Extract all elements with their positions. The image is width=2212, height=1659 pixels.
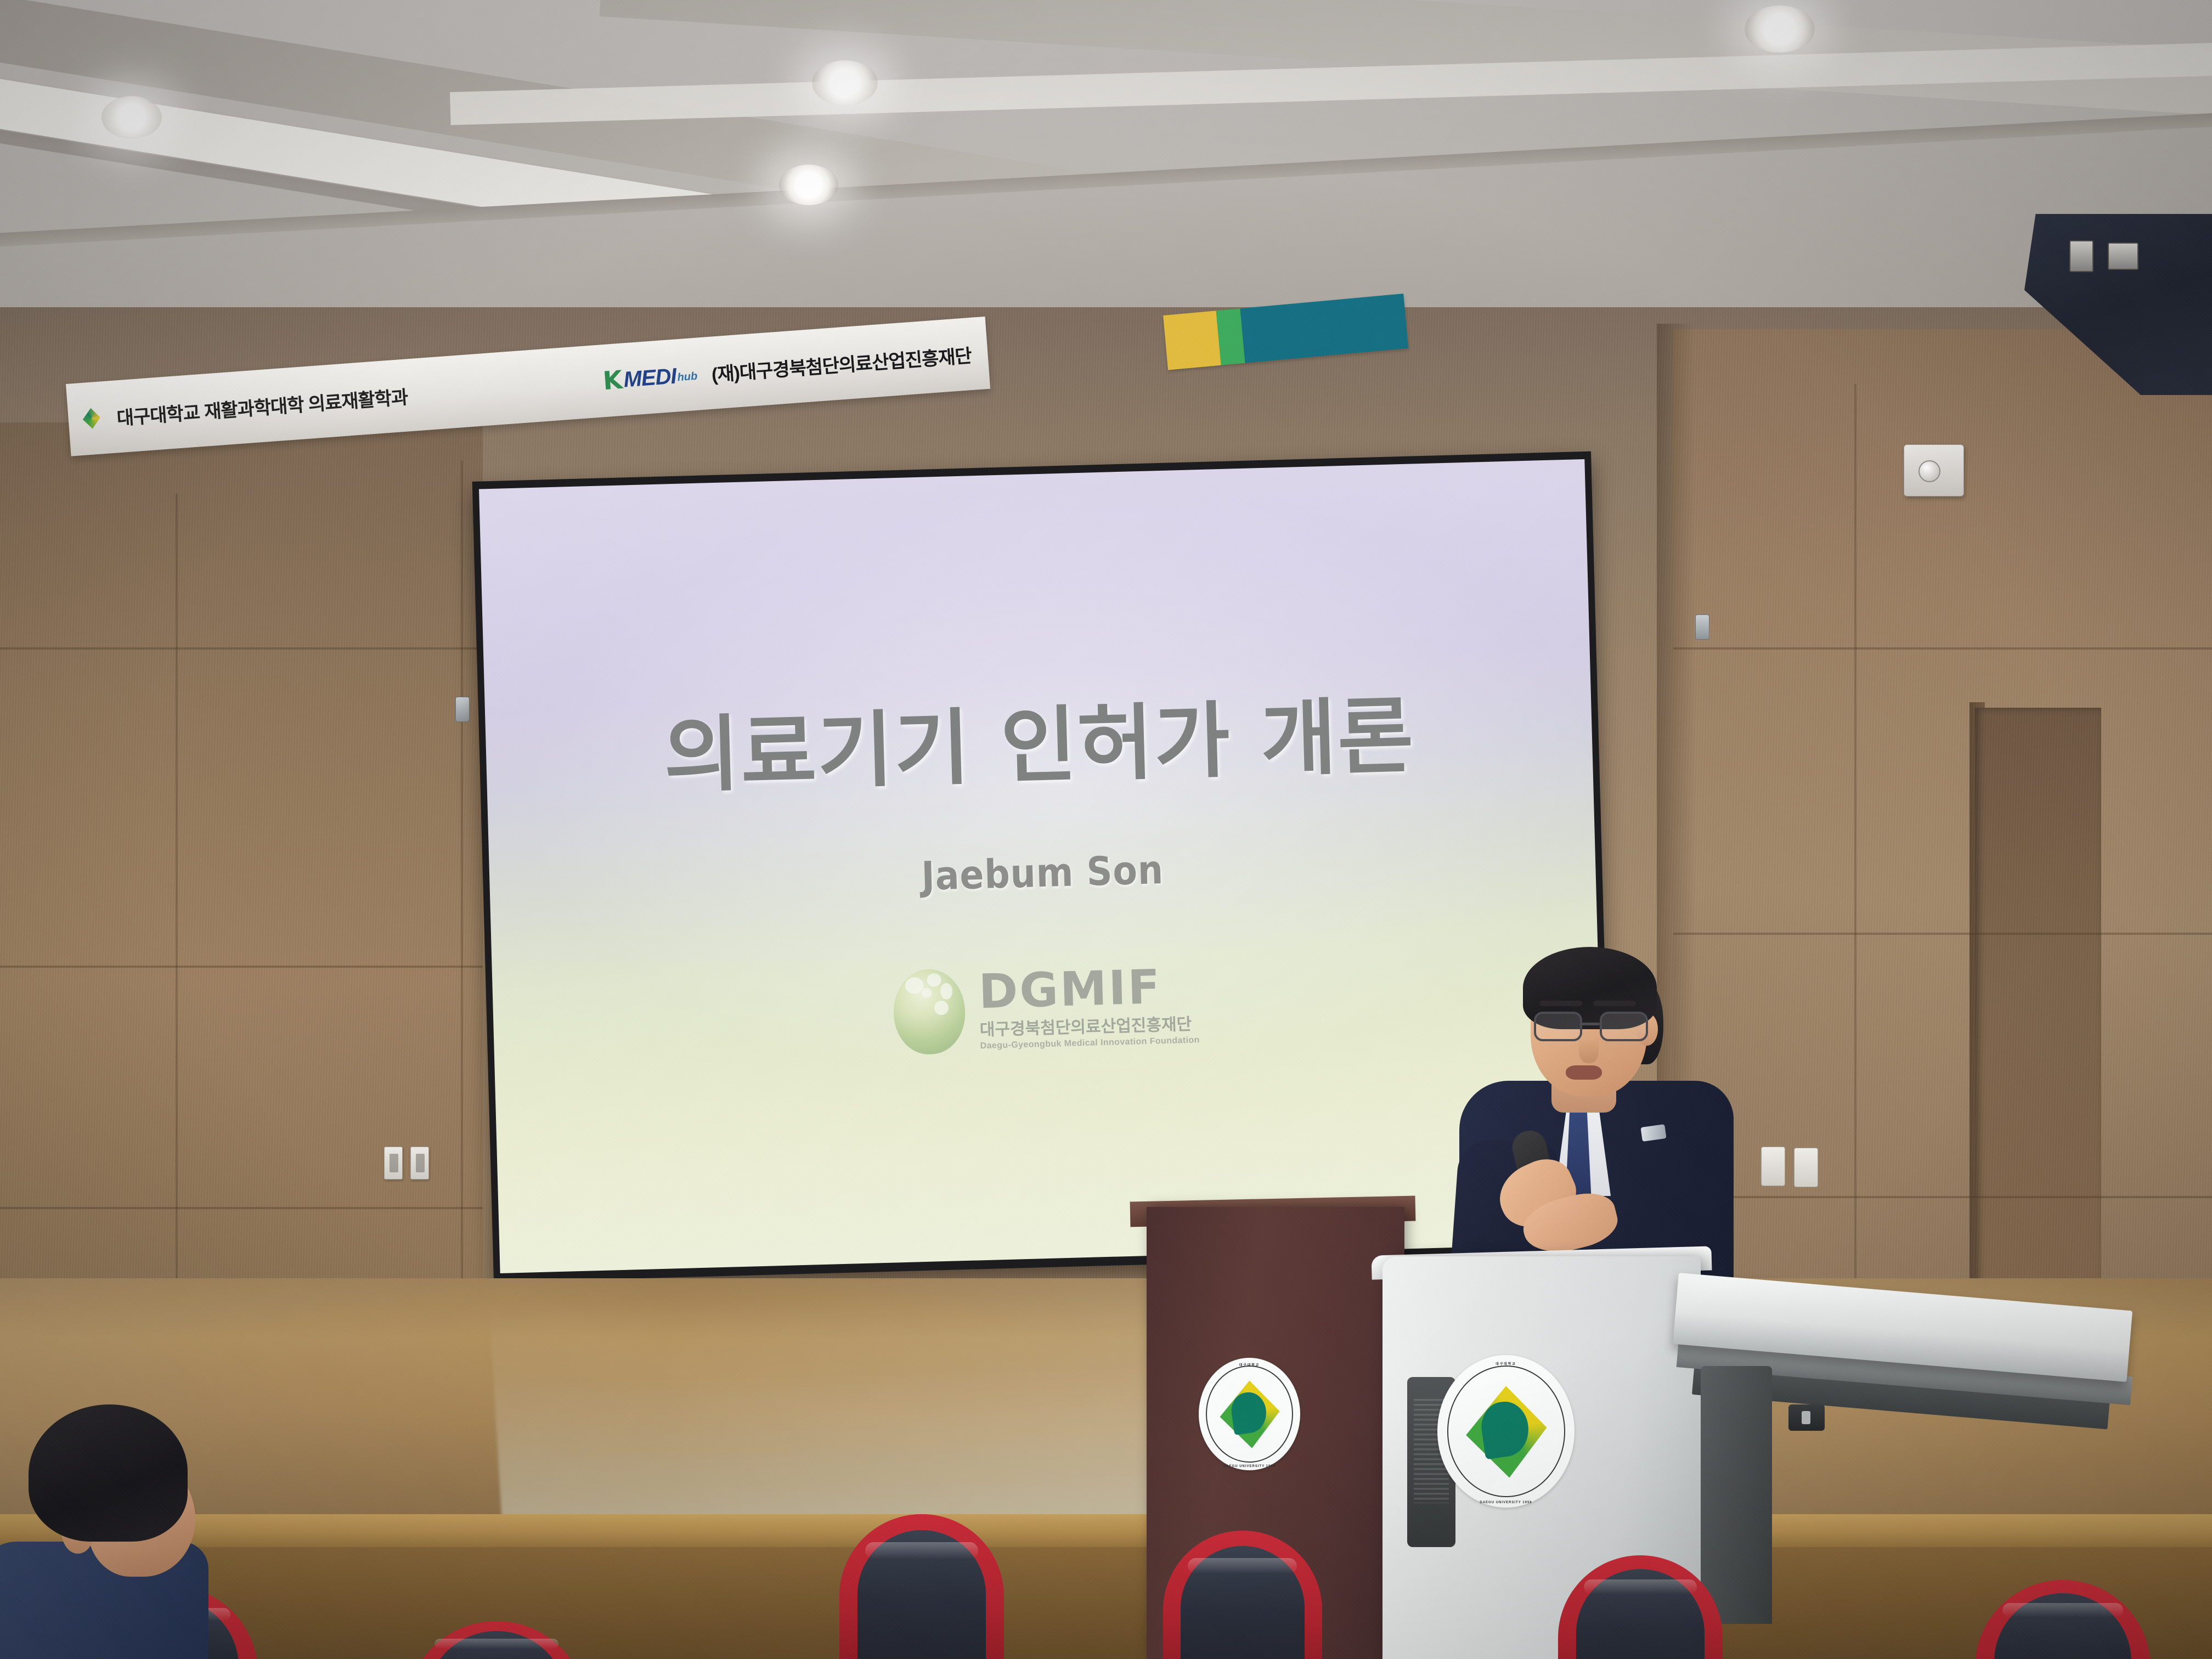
kmedihub-medi: MEDI xyxy=(623,367,676,390)
wall-outlet[interactable] xyxy=(384,1147,403,1180)
podium-control-button[interactable] xyxy=(1788,1404,1825,1431)
speaker-grille-icon xyxy=(2069,240,2093,272)
emblem-top-label: 대구대학교 xyxy=(1437,1361,1575,1366)
wall-seam xyxy=(461,461,463,1317)
downlight-icon xyxy=(779,165,838,205)
wall-outlet[interactable] xyxy=(410,1147,429,1180)
emblem-top-label: 대구대학교 xyxy=(1199,1362,1300,1367)
dgmif-globe-icon xyxy=(893,968,966,1055)
thermostat-dial-icon[interactable] xyxy=(1918,460,1940,482)
daegu-university-emblem: 대구대학교 DAEGU UNIVERSITY 1956 xyxy=(1199,1358,1300,1470)
projection-screen-frame: 의료기기 인허가 개론 Jaebum Son DGMIF 대구경북첨단의료산업진… xyxy=(472,452,1613,1283)
downlight-icon xyxy=(812,60,878,105)
wall-seam xyxy=(0,966,483,968)
slide-title: 의료기기 인허가 개론 xyxy=(663,693,1415,799)
presenter-mouth xyxy=(1566,1065,1602,1080)
downlight-icon xyxy=(1745,5,1815,53)
stripe-yellow xyxy=(1163,311,1221,370)
wall-fixture xyxy=(455,697,470,722)
wall-seam xyxy=(0,647,483,650)
dgmif-korean-name: 대구경북첨단의료산업진흥재단 xyxy=(979,1010,1199,1040)
wall-seam xyxy=(1854,384,1857,1328)
wall-switch-plate[interactable] xyxy=(1794,1148,1818,1187)
kmedihub-k: K xyxy=(602,369,623,391)
slide-presenter-name: Jaebum Son xyxy=(921,847,1164,899)
daegu-university-mark-icon xyxy=(80,405,103,432)
stage-riser-face xyxy=(0,1547,2212,1659)
downlight-icon xyxy=(101,96,162,139)
daegu-university-emblem: 대구대학교 DAEGU UNIVERSITY 1956 xyxy=(1437,1355,1575,1508)
wall-fixture xyxy=(1695,614,1709,640)
wall-switch-plate[interactable] xyxy=(1761,1147,1785,1186)
emblem-bottom-label: DAEGU UNIVERSITY 1956 xyxy=(1437,1501,1575,1504)
recessed-door xyxy=(1975,708,2101,1328)
presenter-nose xyxy=(1579,1038,1599,1063)
wall-seam xyxy=(176,494,178,1328)
emblem-bottom-label: DAEGU UNIVERSITY 1956 xyxy=(1199,1465,1300,1468)
speaker-grille-icon xyxy=(2108,242,2138,270)
dgmif-logo: DGMIF 대구경북첨단의료산업진흥재단 Daegu-Gyeongbuk Med… xyxy=(893,962,1200,1056)
wall-seam xyxy=(0,1207,483,1209)
podium-support-column xyxy=(1701,1366,1772,1624)
banner-right-text: (재)대구경북첨단의료산업진흥재단 xyxy=(710,340,977,386)
wall-seam xyxy=(1673,647,2212,650)
kmedihub-hub: hub xyxy=(677,371,698,386)
banner-left-text: 대구대학교 재활과학대학 의료재활학과 xyxy=(116,382,409,430)
wall-thermostat[interactable] xyxy=(1904,444,1964,496)
dgmif-acronym: DGMIF xyxy=(978,964,1199,1014)
presenter-brow xyxy=(1593,1001,1636,1006)
kmedihub-logo: K MEDI hub xyxy=(602,364,698,391)
auditorium-photo: 대구대학교 재활과학대학 의료재활학과 K MEDI hub (재)대구경북첨단… xyxy=(0,0,2212,1659)
left-wall-panel xyxy=(0,422,483,1355)
projection-screen: 의료기기 인허가 개론 Jaebum Son DGMIF 대구경북첨단의료산업진… xyxy=(479,459,1606,1273)
audience-member xyxy=(0,1404,285,1659)
presenter-brow xyxy=(1539,1001,1582,1006)
audience-member-hair xyxy=(29,1404,188,1542)
